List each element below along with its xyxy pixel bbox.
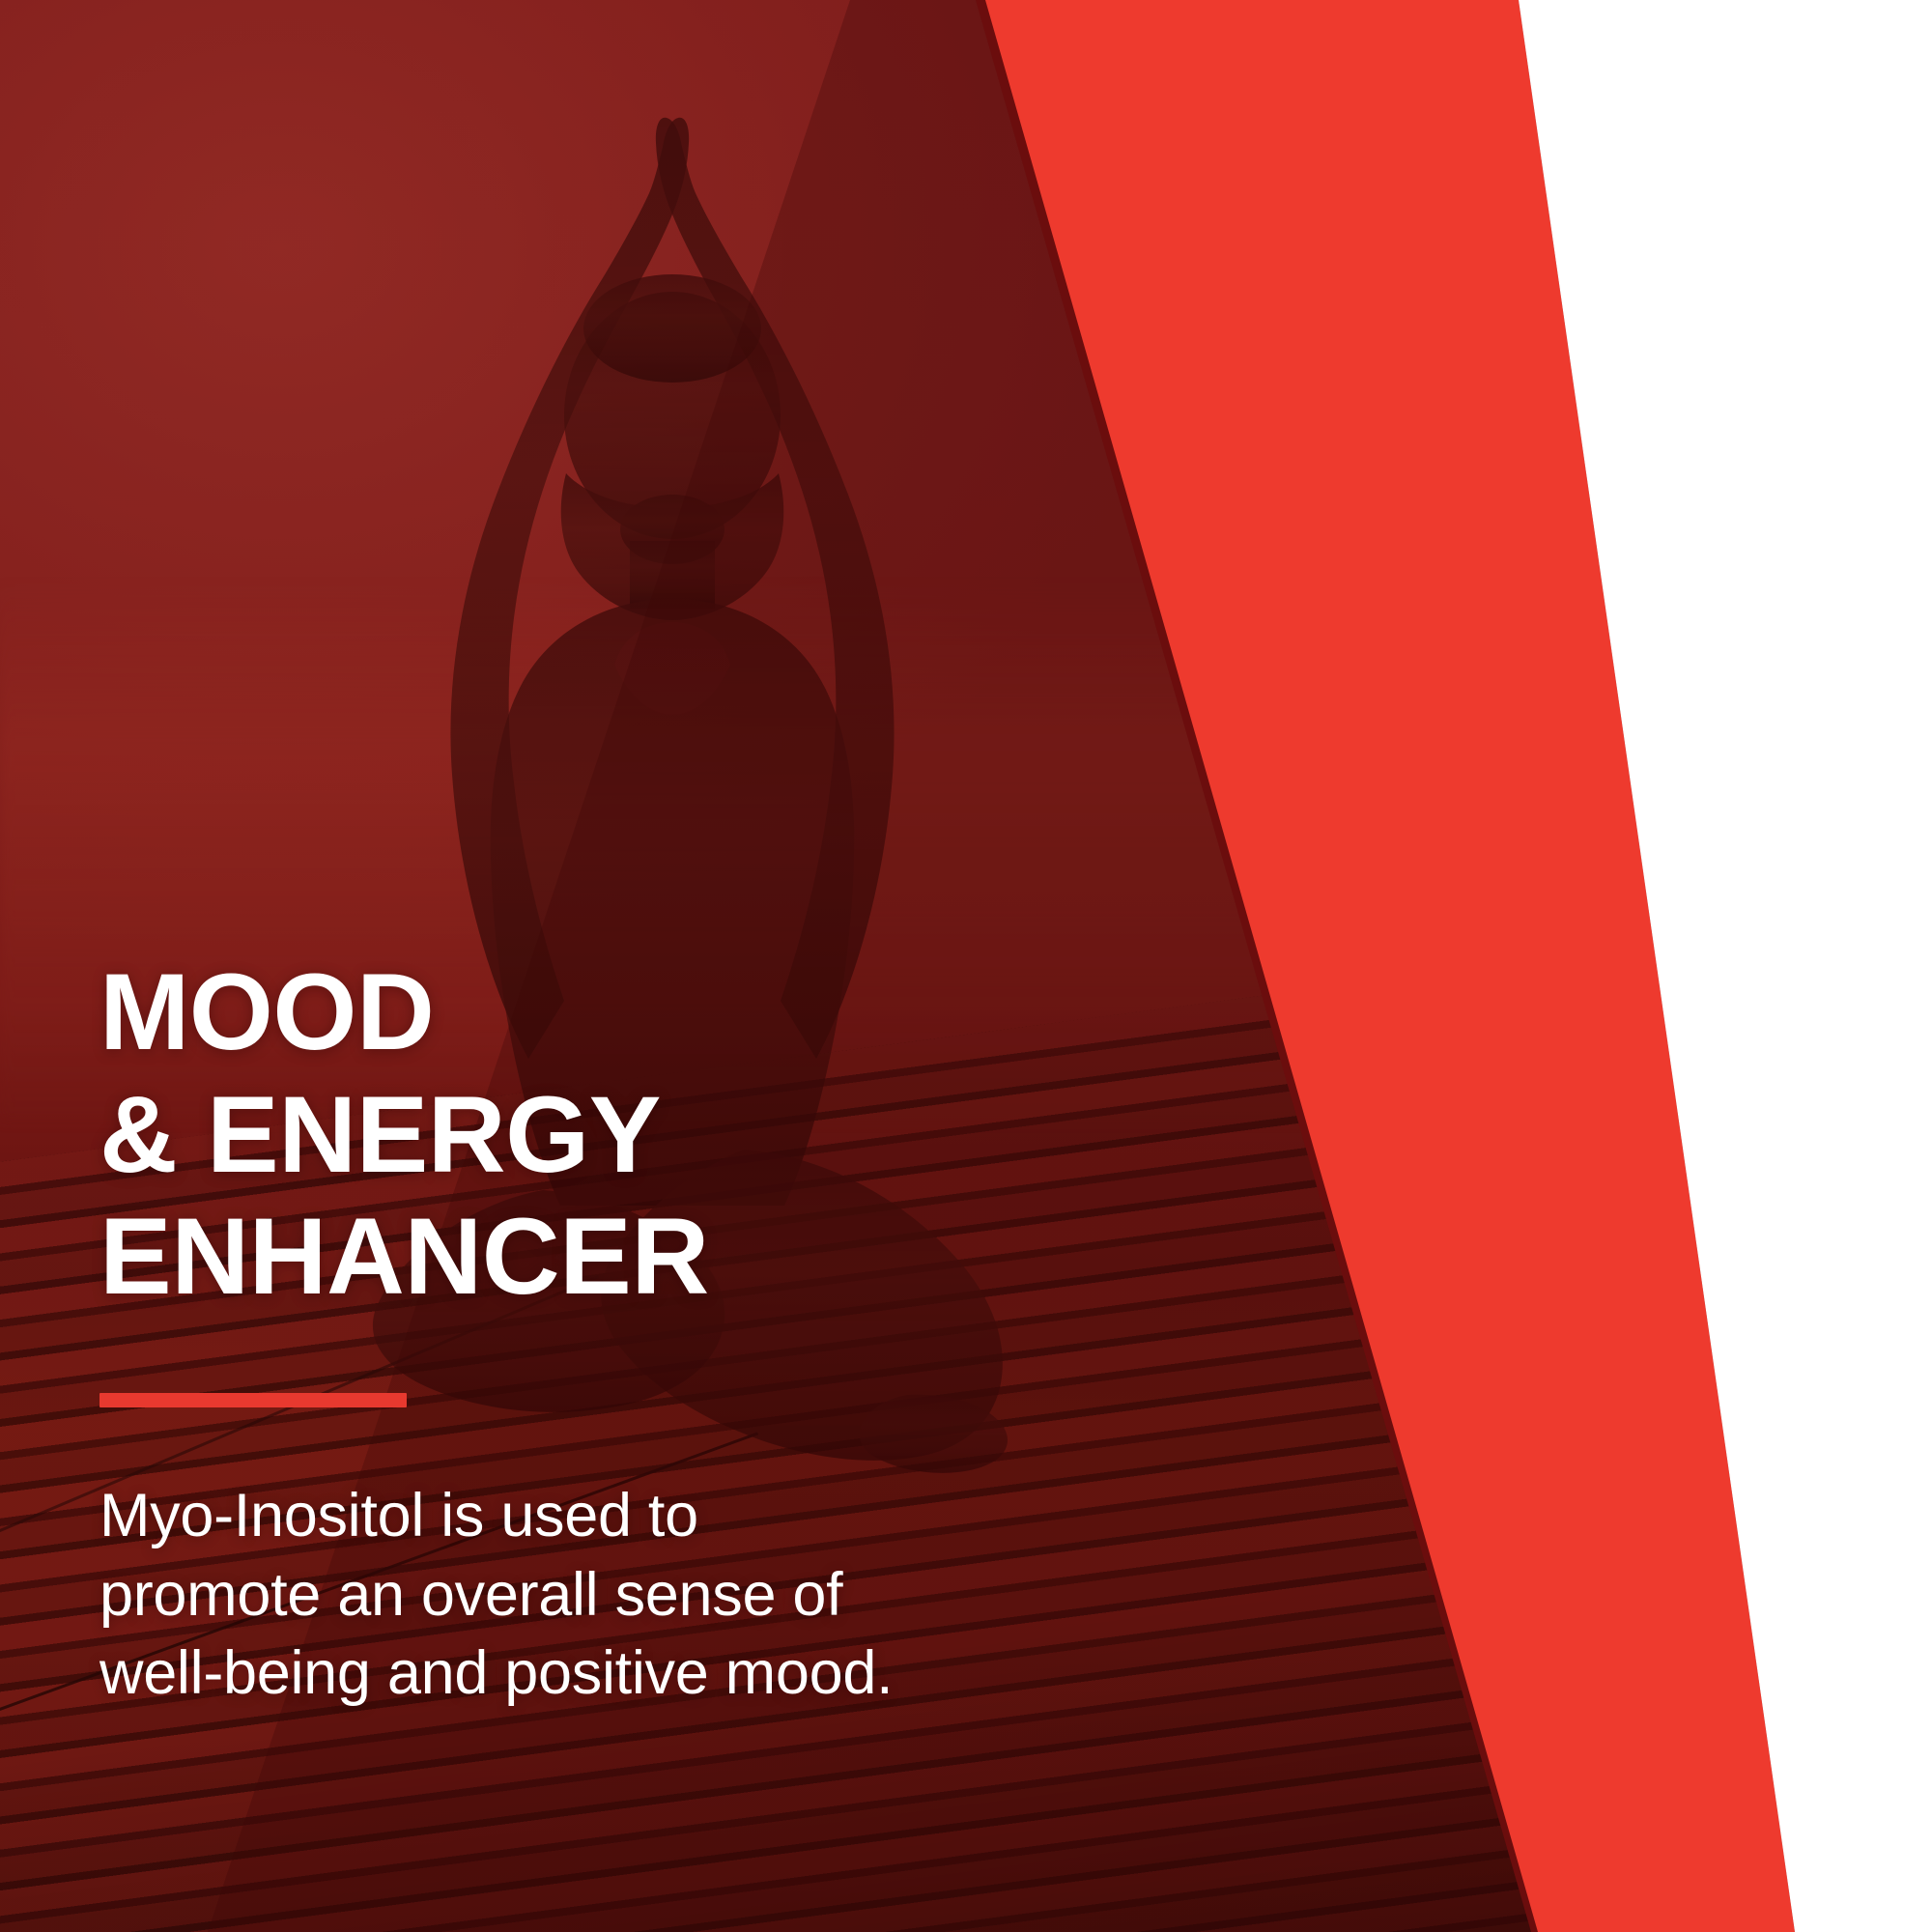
body-line-2: promote an overall sense of [99,1556,1123,1635]
body-line-3: well-being and positive mood. [99,1634,1123,1714]
headline-line-3: ENHANCER [99,1196,1123,1319]
text-block: MOOD & ENERGY ENHANCER Myo-Inositol is u… [99,952,1123,1714]
page-title: MOOD & ENERGY ENHANCER [99,952,1123,1319]
headline-line-1: MOOD [99,952,1123,1074]
body-copy: Myo-Inositol is used to promote an overa… [99,1477,1123,1715]
accent-rule [99,1393,407,1407]
headline-line-2: & ENERGY [99,1074,1123,1197]
body-line-1: Myo-Inositol is used to [99,1477,1123,1556]
promo-poster: MOOD & ENERGY ENHANCER Myo-Inositol is u… [0,0,1932,1932]
